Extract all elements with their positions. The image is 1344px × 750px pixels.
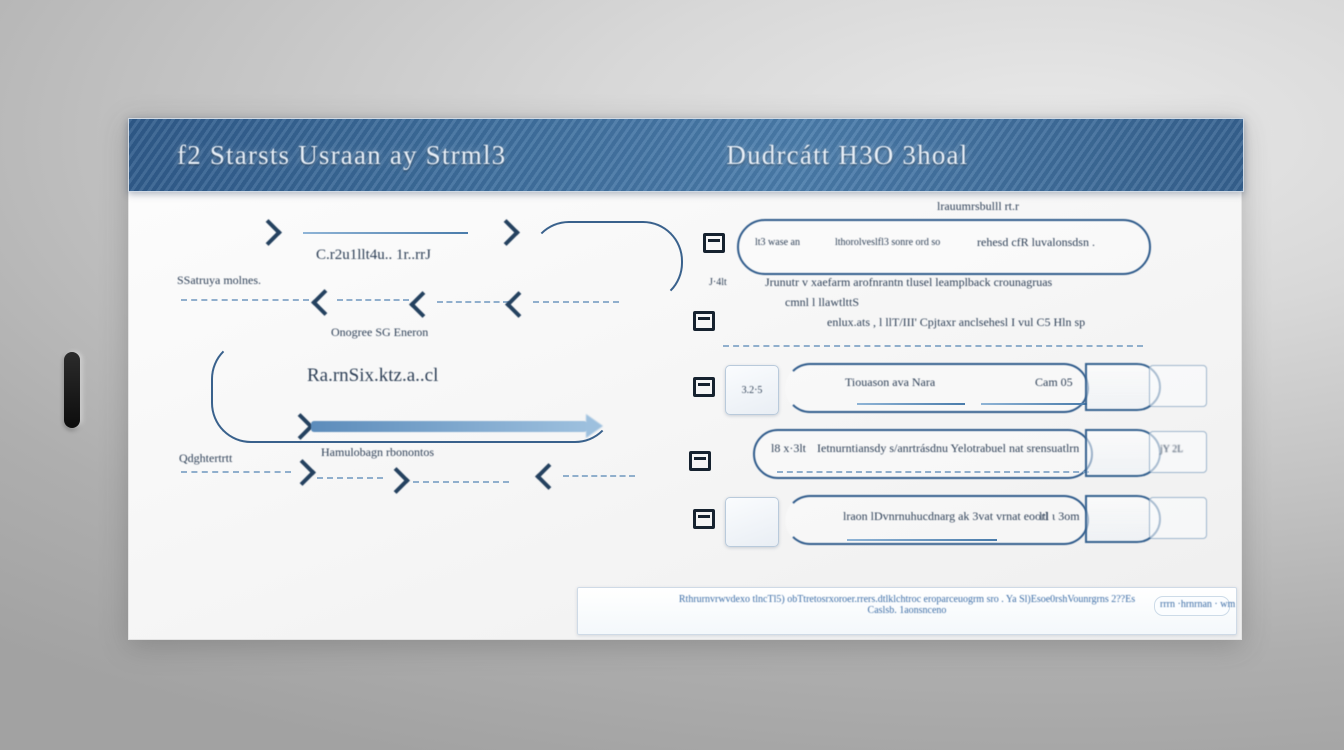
tag-icon: [689, 451, 711, 471]
table-row[interactable]: 3.2·5 Tiouason ava Nara Cam 05: [687, 359, 1221, 423]
row-meta: Cam 05: [1035, 375, 1073, 390]
document-icon: [693, 377, 715, 397]
row-underline: [847, 539, 997, 541]
summary-mid-text: lthorolveslfl3 sonre ord so: [835, 237, 940, 248]
status-tag[interactable]: rrrn ·hrnrnan · wm: [1154, 596, 1230, 616]
row-extra-button[interactable]: [1149, 497, 1207, 539]
drag-handle[interactable]: [64, 352, 80, 428]
window-title-left: f2 Starsts Usraan ay Strml3: [177, 140, 506, 171]
connector-dash-2: [337, 299, 409, 301]
row-underline: [857, 403, 965, 405]
title-bar: f2 Starsts Usraan ay Strml3 Dudrcátt H3O…: [128, 118, 1244, 192]
row-thumbnail[interactable]: [725, 497, 779, 547]
connector-dash-8: [563, 475, 635, 477]
window-title-right: Dudrcátt H3O 3hoal: [726, 140, 968, 171]
row-thumb-label: l8 x·3lt: [771, 441, 806, 456]
image-icon: [693, 311, 715, 331]
list-icon: [703, 233, 725, 253]
progress-arrow: [311, 421, 587, 432]
note-line-1: Jrunutr v xaefarm arofnrantn tlusel leam…: [765, 275, 1052, 290]
diagram-label-6: Qdghtertrtt: [179, 451, 232, 466]
note-line-3: enlux.ats , l llT/III' Cpjtaxr anclsehes…: [827, 315, 1085, 330]
row-title: Tiouason ava Nara: [845, 375, 935, 390]
diagram-label-2: SSatruya molnes.: [177, 273, 261, 288]
table-row[interactable]: lraon lDvnrnuhucdnarg ak 3vat vrnat eoor…: [687, 491, 1221, 555]
diagram-label-1: C.r2u1llt4u.. 1r..rrJ: [316, 247, 431, 264]
row-underline: [777, 471, 1089, 473]
connector-dash-3: [437, 301, 509, 303]
table-row[interactable]: l8 x·3lt Ietnurntiansdy s/anrtrásdnu Yel…: [687, 425, 1221, 489]
row-thumbnail[interactable]: 3.2·5: [725, 365, 779, 415]
summary-left-text: lt3 wase an: [755, 237, 800, 248]
row-underline-2: [981, 403, 1087, 405]
diagram-label-5: Hamulobagn rbonontos: [321, 445, 434, 460]
row-badge-button[interactable]: jY 2L: [1149, 431, 1207, 473]
thumb-label: 3.2·5: [742, 385, 763, 396]
diagram-label-4: Ra.rnSix.ktz.a..cl: [307, 365, 438, 387]
note-prefix: J·4lt: [709, 277, 727, 288]
loop-connector-top: [529, 221, 683, 303]
status-line-1: Rthrurnvrwvdexo tlncTl5) obTtretosrxoroe…: [588, 594, 1226, 605]
connector-dash-7: [413, 481, 509, 483]
section-label: lrauumrsbulll rt.r: [937, 199, 1019, 214]
note-line-2: cmnl l llawtlttS: [785, 295, 859, 310]
connector-dash-4: [533, 301, 619, 303]
flow-diagram-pane: C.r2u1llt4u.. 1r..rrJ SSatruya molnes. O…: [151, 199, 681, 599]
summary-right-text: rehesd cfR luvalonsdsn .: [977, 235, 1095, 250]
detail-list-pane: lrauumrsbulll rt.r lt3 wase an lthorolve…: [687, 199, 1221, 599]
status-line-2: Caslsb. 1aonsnceno: [588, 605, 1226, 616]
row-badge: jY 2L: [1160, 444, 1183, 455]
note-underline: [723, 345, 1143, 347]
row-title: lraon lDvnrnuhucdnarg ak 3vat vrnat eoor…: [843, 509, 1048, 524]
row-extra-button[interactable]: [1149, 365, 1207, 407]
row-title: Ietnurntiansdy s/anrtrásdnu Yelotrabuel …: [817, 441, 1079, 456]
connector-line-1: [303, 232, 468, 234]
screen: f2 Starsts Usraan ay Strml3 Dudrcátt H3O…: [0, 0, 1344, 750]
status-tag-label: rrrn ·hrnrnan · wm: [1160, 599, 1235, 610]
window-icon: [693, 509, 715, 529]
diagram-label-3: Onogree SG Eneron: [331, 325, 428, 340]
row-meta: ltl ι 3om: [1039, 509, 1080, 524]
connector-dash-1: [181, 299, 309, 301]
connector-dash-5: [181, 471, 291, 473]
status-bar: Rthrurnvrwvdexo tlncTl5) obTtretosrxoroe…: [577, 587, 1237, 635]
main-card: f2 Starsts Usraan ay Strml3 Dudrcátt H3O…: [128, 118, 1242, 640]
connector-dash-6: [317, 477, 383, 479]
